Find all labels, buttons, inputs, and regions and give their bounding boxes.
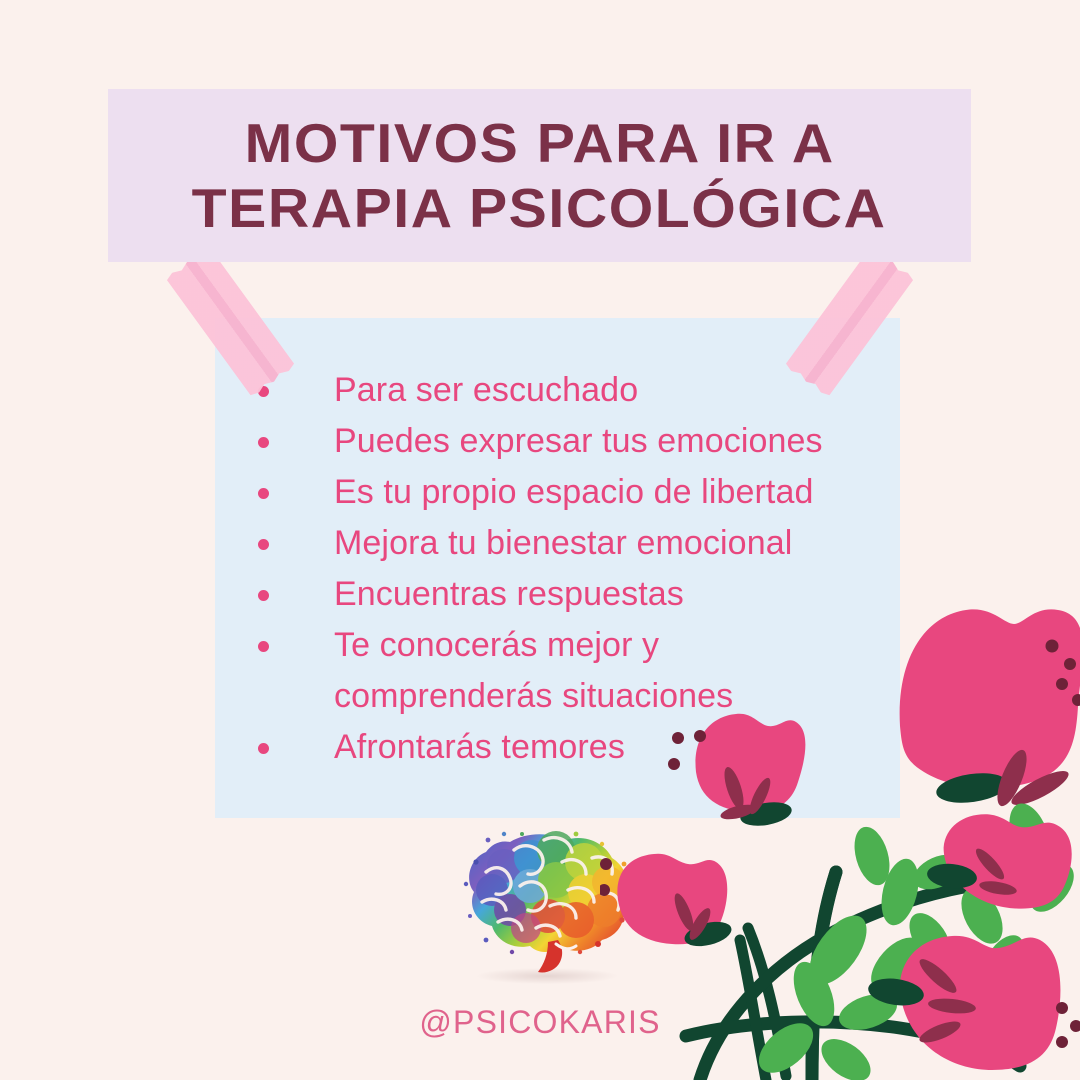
poster-canvas: MOTIVOS PARA IR A TERAPIA PSICOLÓGICA Pa… [0,0,1080,1080]
list-item-label: Afrontarás temores [334,728,625,766]
bullet-icon [258,437,269,448]
list-item-label: Encuentras respuestas [334,575,684,613]
list-item-label: Para ser escuchado [334,371,638,409]
bullet-icon [258,743,269,754]
social-handle: @PSICOKARIS [0,1004,1080,1041]
page-title-line-2: TERAPIA PSICOLÓGICA [192,176,887,241]
list-item: Mejora tu bienestar emocional [258,518,878,569]
bullet-icon [258,488,269,499]
list-item: Afrontarás temores [258,722,878,773]
list-item-label: Mejora tu bienestar emocional [334,524,792,562]
list-item-label: Te conocerás mejor y comprenderás situac… [334,626,733,715]
reasons-list: Para ser escuchado Puedes expresar tus e… [258,365,878,773]
list-item-label: Puedes expresar tus emociones [334,422,823,460]
bullet-icon [258,539,269,550]
list-item: Es tu propio espacio de libertad [258,467,878,518]
title-banner: MOTIVOS PARA IR A TERAPIA PSICOLÓGICA [108,89,971,262]
poppy-bottom-right [866,936,1080,1070]
poppy-large [900,609,1080,811]
list-item-label: Es tu propio espacio de libertad [334,473,814,511]
reasons-card: Para ser escuchado Puedes expresar tus e… [215,318,900,818]
bullet-icon [258,590,269,601]
list-item: Para ser escuchado [258,365,878,416]
list-item: Te conocerás mejor y comprenderás situac… [258,620,878,722]
bullet-icon [258,641,269,652]
poppy-mid-right [926,814,1072,908]
page-title-line-1: MOTIVOS PARA IR A [244,111,834,176]
list-item: Puedes expresar tus emociones [258,416,878,467]
rainbow-brain-icon [452,828,638,978]
list-item: Encuentras respuestas [258,569,878,620]
